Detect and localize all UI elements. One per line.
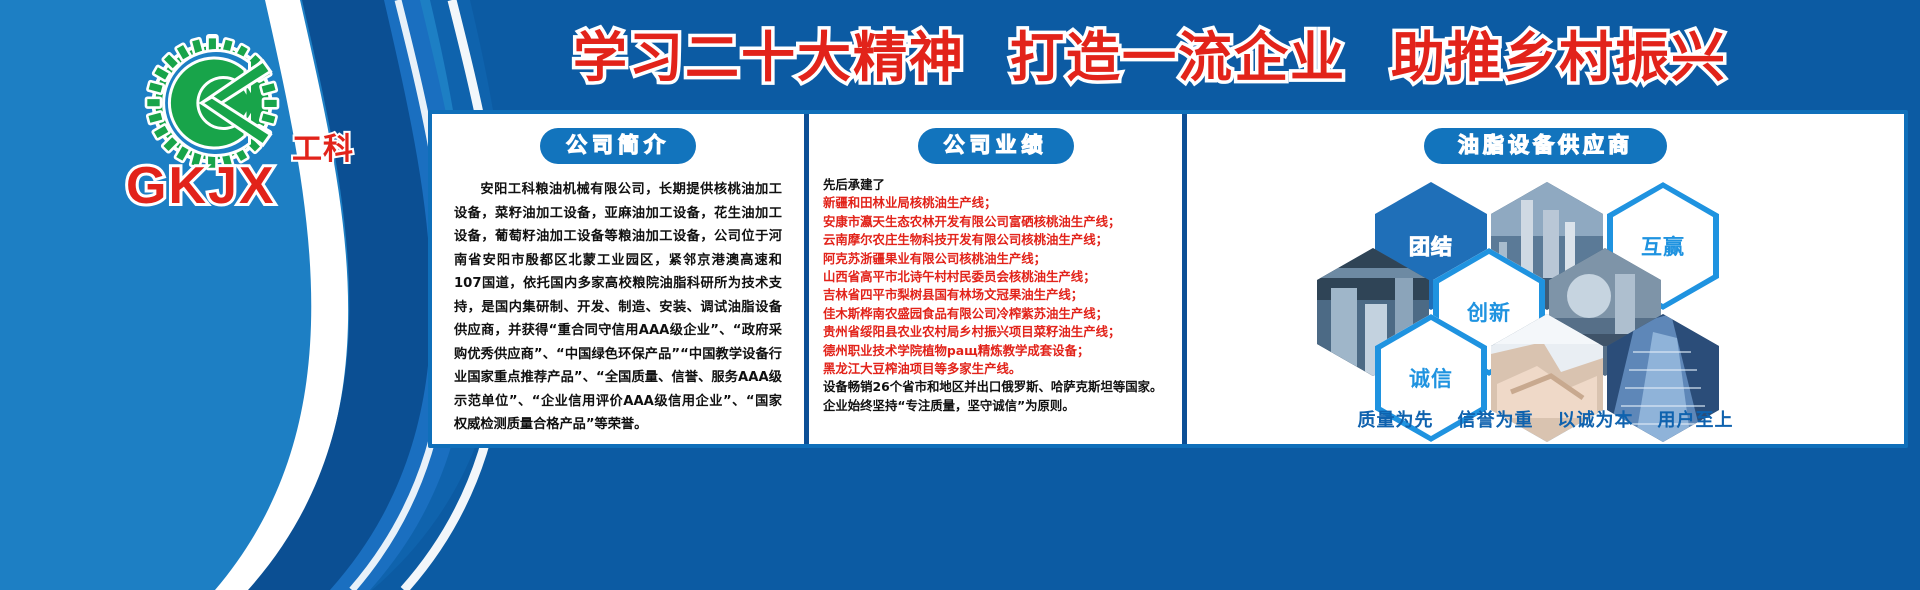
performance-tail-line: 设备畅销26个省市和地区并出口俄罗斯、哈萨克斯坦等国家。 [823, 378, 1182, 396]
content-board: 公司简介 安阳工科粮油机械有限公司，长期提供核桃油加工设备，菜籽油加工设备，亚麻… [428, 110, 1908, 448]
hex-label: 诚信 [1409, 363, 1453, 393]
panel-company-profile: 公司简介 安阳工科粮油机械有限公司，长期提供核桃油加工设备，菜籽油加工设备，亚麻… [432, 114, 804, 444]
performance-lead: 先后承建了 [823, 176, 1182, 194]
performance-item: 云南摩尔农庄生物科技开发有限公司核桃油生产线； [823, 231, 1182, 249]
logo-en-text: GKJX [126, 156, 276, 216]
performance-item: 黑龙江大豆榨油项目等多家生产线。 [823, 360, 1182, 378]
performance-list: 先后承建了 新疆和田林业局核桃油生产线；安康市瀛天生态农林开发有限公司富硒核桃油… [823, 176, 1182, 415]
page-title: 学习二十大精神 打造一流企业 助推乡村振兴 [430, 22, 1870, 94]
performance-tail-line: 企业始终坚持“专注质量，坚守诚信”为原则。 [823, 397, 1182, 415]
slogan-4: 用户至上 [1658, 410, 1734, 430]
headline-part-3: 助推乡村振兴 [1391, 28, 1727, 88]
performance-tail: 设备畅销26个省市和地区并出口俄罗斯、哈萨克斯坦等国家。企业始终坚持“专注质量，… [823, 378, 1182, 415]
panel-title-company-profile: 公司简介 [540, 128, 696, 164]
hex-label: 团结 [1409, 231, 1453, 261]
performance-item: 阿克苏浙疆果业有限公司核桃油生产线； [823, 250, 1182, 268]
performance-item: 佳木斯桦南农盛园食品有限公司冷榨紫苏油生产线； [823, 305, 1182, 323]
company-logo: 工科 GKJX [110, 28, 360, 218]
panel-company-performance: 公司业绩 先后承建了 新疆和田林业局核桃油生产线；安康市瀛天生态农林开发有限公司… [804, 114, 1182, 444]
headline-part-1: 学习二十大精神 [573, 28, 965, 88]
slogan-1: 质量为先 [1357, 410, 1433, 430]
headline-part-2: 打造一流企业 [1010, 28, 1346, 88]
performance-item: 安康市瀛天生态农林开发有限公司富硒核桃油生产线； [823, 213, 1182, 231]
panel-title-company-performance: 公司业绩 [918, 128, 1074, 164]
slogan-3: 以诚为本 [1558, 410, 1634, 430]
performance-item: 德州职业技术学院植物ращ精炼教学成套设备； [823, 342, 1182, 360]
logo-cn-text: 工科 [292, 124, 354, 168]
performance-items: 新疆和田林业局核桃油生产线；安康市瀛天生态农林开发有限公司富硒核桃油生产线；云南… [823, 194, 1182, 378]
supplier-footer-slogans: 质量为先 信誉为重 以诚为本 用户至上 [1187, 406, 1904, 432]
panel-supplier: 油脂设备供应商 团结 互赢 [1182, 114, 1904, 444]
hex-cluster: 团结 互赢 [1187, 170, 1904, 382]
slogan-2: 信誉为重 [1457, 410, 1533, 430]
performance-item: 新疆和田林业局核桃油生产线； [823, 194, 1182, 212]
performance-item: 贵州省绥阳县农业农村局乡村振兴项目菜籽油生产线； [823, 323, 1182, 341]
company-profile-text: 安阳工科粮油机械有限公司，长期提供核桃油加工设备，菜籽油加工设备，亚麻油加工设备… [454, 178, 782, 437]
hex-label: 互赢 [1641, 231, 1685, 261]
panel-title-supplier: 油脂设备供应商 [1424, 128, 1667, 164]
hex-label: 创新 [1467, 297, 1511, 327]
performance-item: 山西省高平市北诗午村村民委员会核桃油生产线； [823, 268, 1182, 286]
performance-item: 吉林省四平市梨树县国有林场文冠果油生产线； [823, 286, 1182, 304]
